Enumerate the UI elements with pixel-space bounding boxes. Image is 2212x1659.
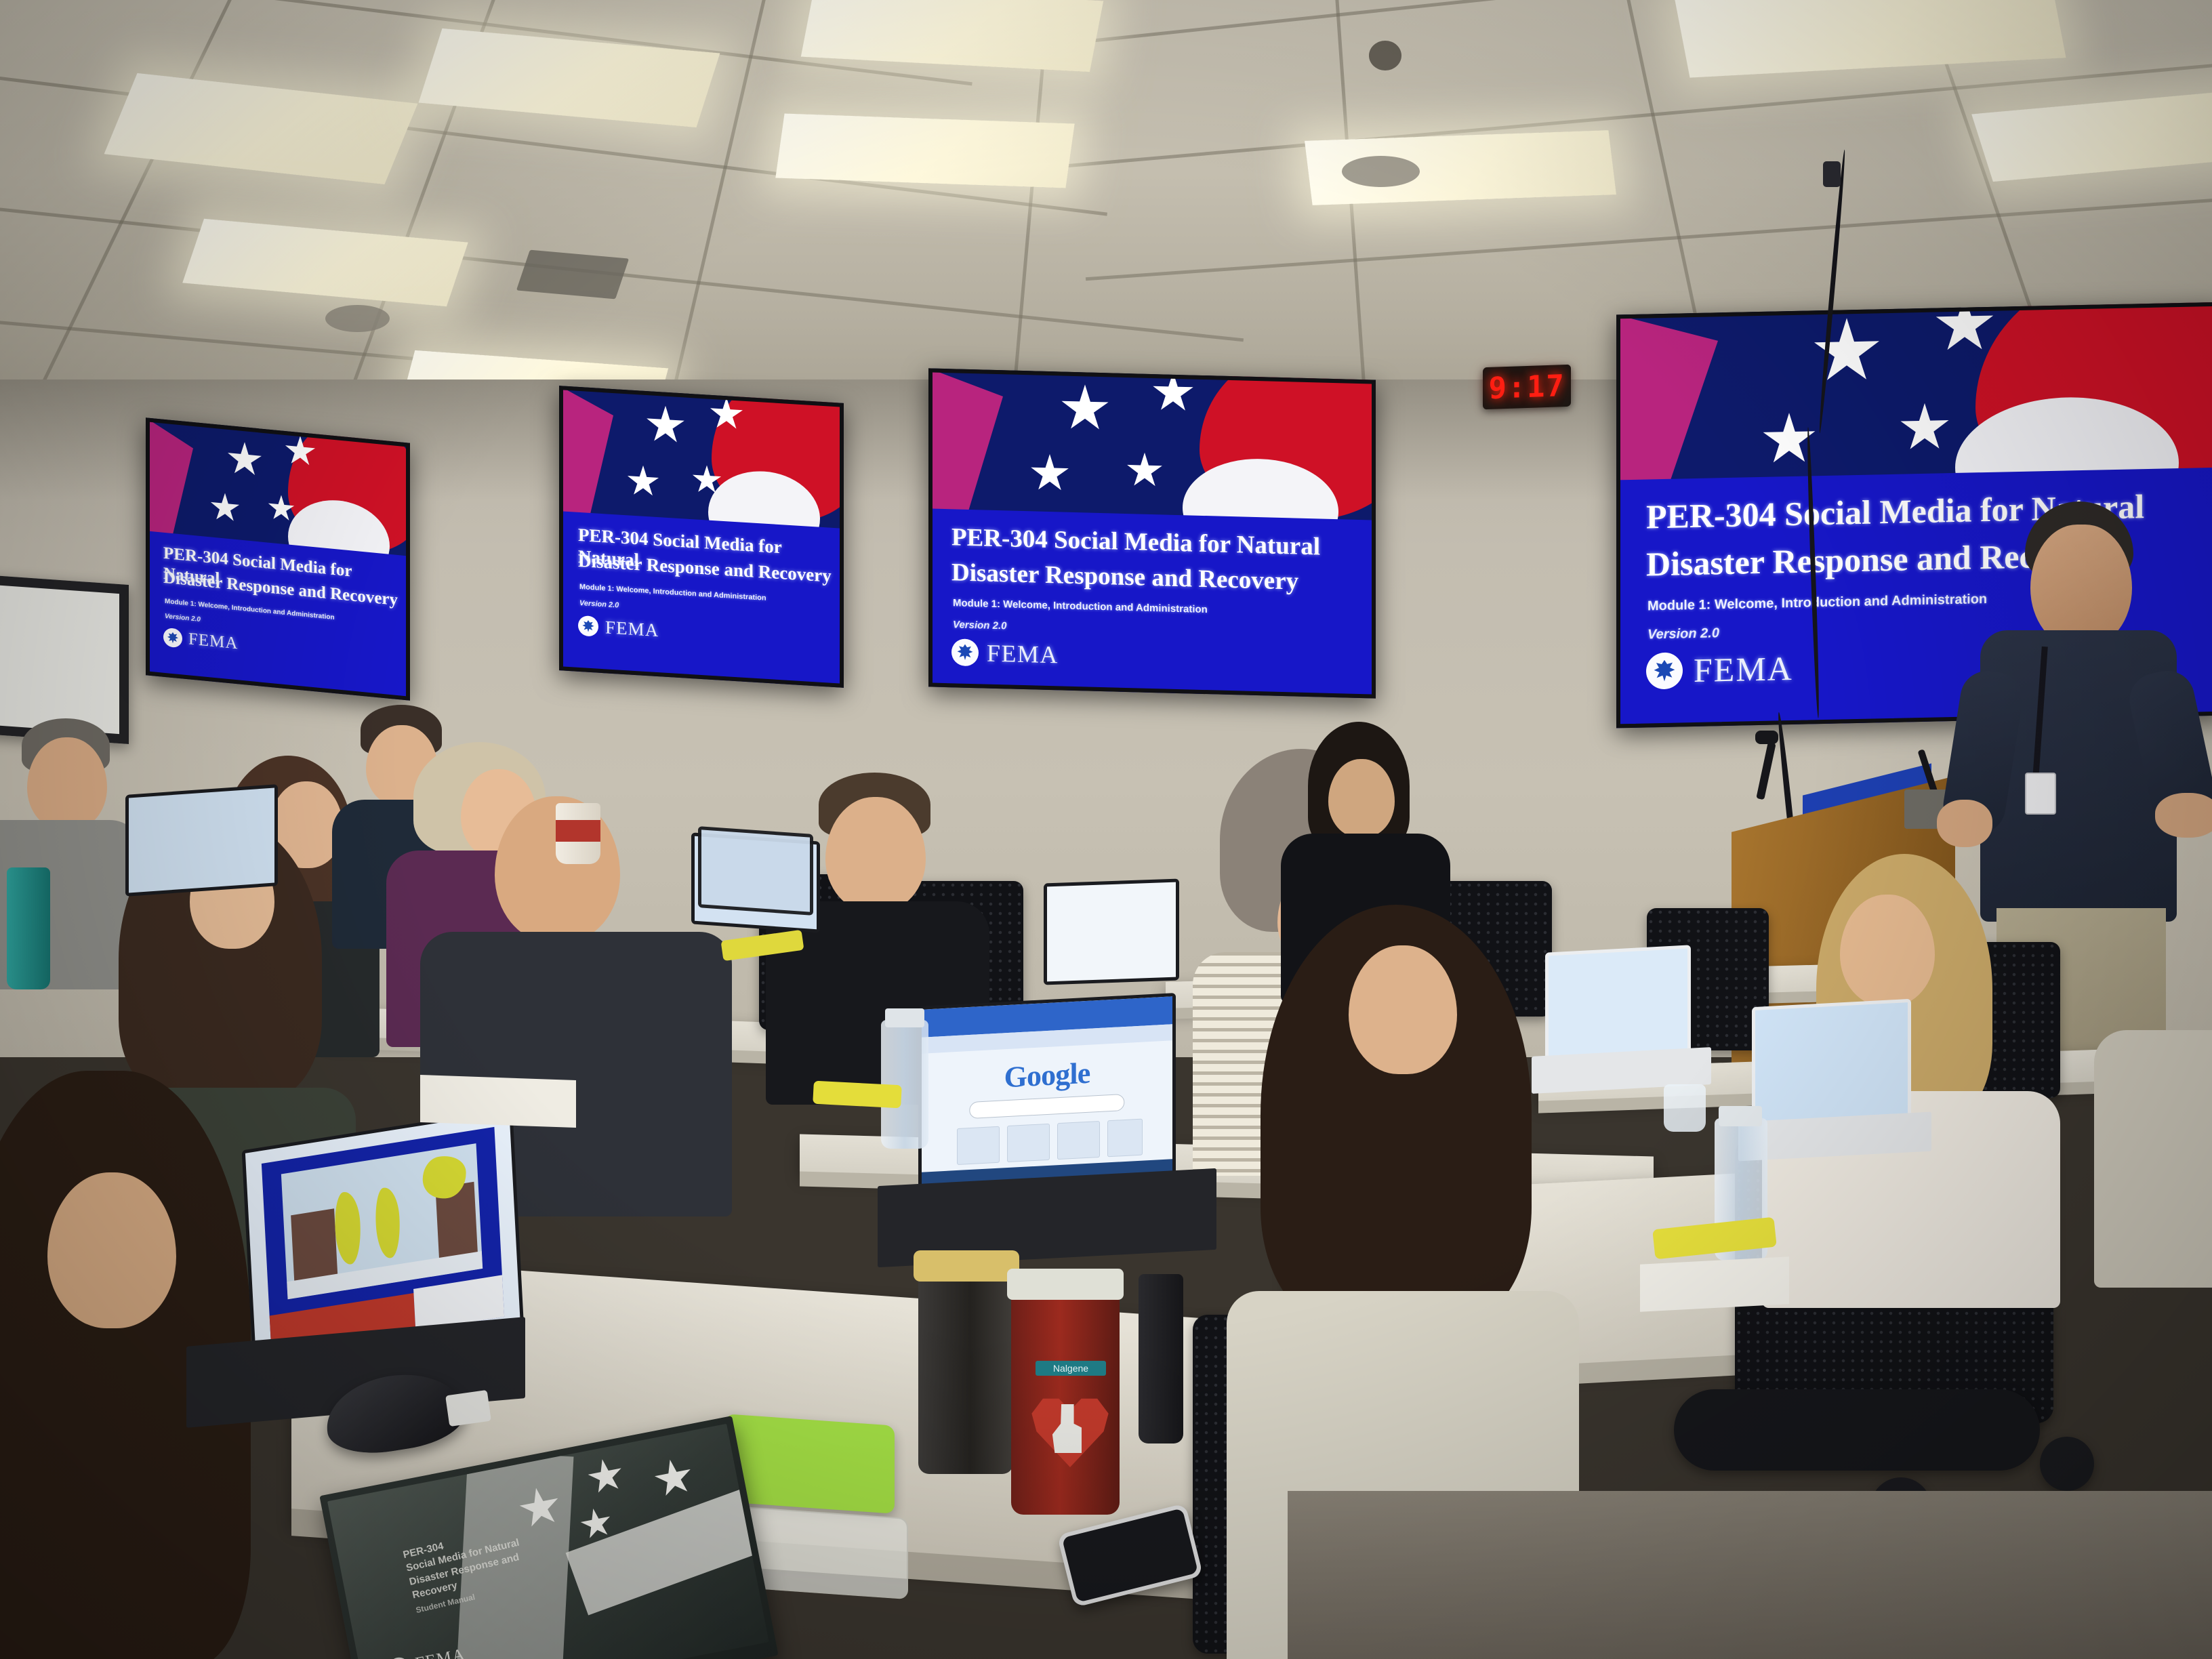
mug-lid [914,1250,1019,1282]
microphone-head [1755,731,1778,744]
coffee-cup-sleeve [556,820,600,842]
chair-caster [2040,1437,2094,1491]
display-screen-1: PER-304 Social Media for Natural Disaste… [146,417,410,701]
shortcut-tile[interactable] [957,1126,1000,1165]
ceiling-light [419,28,720,127]
nalgene-bottle[interactable] [1011,1291,1120,1515]
bottle-cap [1719,1106,1762,1126]
head [47,1172,176,1328]
dhs-eagle-seal-icon [387,1656,411,1659]
shortcut-tile[interactable] [1007,1124,1050,1162]
ceiling-light [1971,89,2212,182]
presenter-hand-right [2155,793,2212,838]
classroom-photo: PER-304 Social Media for Natural Disaste… [0,0,2212,1659]
clock-time: 9:17 [1488,369,1565,406]
digital-wall-clock: 9:17 [1483,365,1571,410]
ceiling-vent [516,250,629,300]
ceiling-light [104,73,418,184]
id-badge [2025,773,2056,815]
google-logo: Google [1004,1056,1090,1095]
ceiling-light [1675,0,2066,78]
head [1328,759,1395,838]
presenter-hand-left [1937,800,1992,847]
highlighter[interactable] [813,1081,902,1109]
ceiling-smoke-detector [1369,41,1401,70]
display-screen-3: PER-304 Social Media for Natural Disaste… [928,368,1376,698]
nalgene-label: Nalgene [1036,1361,1106,1376]
ceiling-speaker [1342,156,1420,187]
binder-fema-wordmark: FEMA [414,1645,467,1659]
ceiling-speaker [325,305,390,332]
floor [1288,1491,2212,1659]
travel-mug[interactable] [918,1264,1013,1474]
display-screen-2: PER-304 Social Media for Natural Disaste… [559,386,844,688]
shortcut-tile[interactable] [1107,1119,1143,1158]
ceiling-light [182,219,468,307]
head [27,737,107,831]
usb-dongle[interactable] [445,1390,491,1427]
ceiling-light [801,0,1103,72]
binder-fema-logo: FEMA [387,1645,467,1659]
torso [2094,1030,2212,1288]
head [825,797,926,912]
bottle-cap [885,1008,924,1027]
presenter-head [2030,525,2132,647]
paper-sheet[interactable] [420,1075,576,1128]
paper-sheet[interactable] [1640,1256,1789,1312]
water-bottle[interactable] [1139,1274,1183,1443]
bottle-cap [1007,1269,1124,1300]
water-bottle[interactable] [7,867,50,989]
google-search-box[interactable] [969,1094,1124,1118]
ceiling-cable-anchor [1823,161,1841,187]
ceiling-light [775,114,1074,188]
laptop-screen-google: Google [922,996,1172,1192]
head [1840,895,1935,1006]
chair-base[interactable] [1674,1389,2040,1471]
shortcut-tile[interactable] [1057,1121,1100,1160]
head [1349,945,1457,1074]
water-bottle[interactable] [1664,1084,1706,1132]
food-container[interactable] [725,1414,895,1513]
